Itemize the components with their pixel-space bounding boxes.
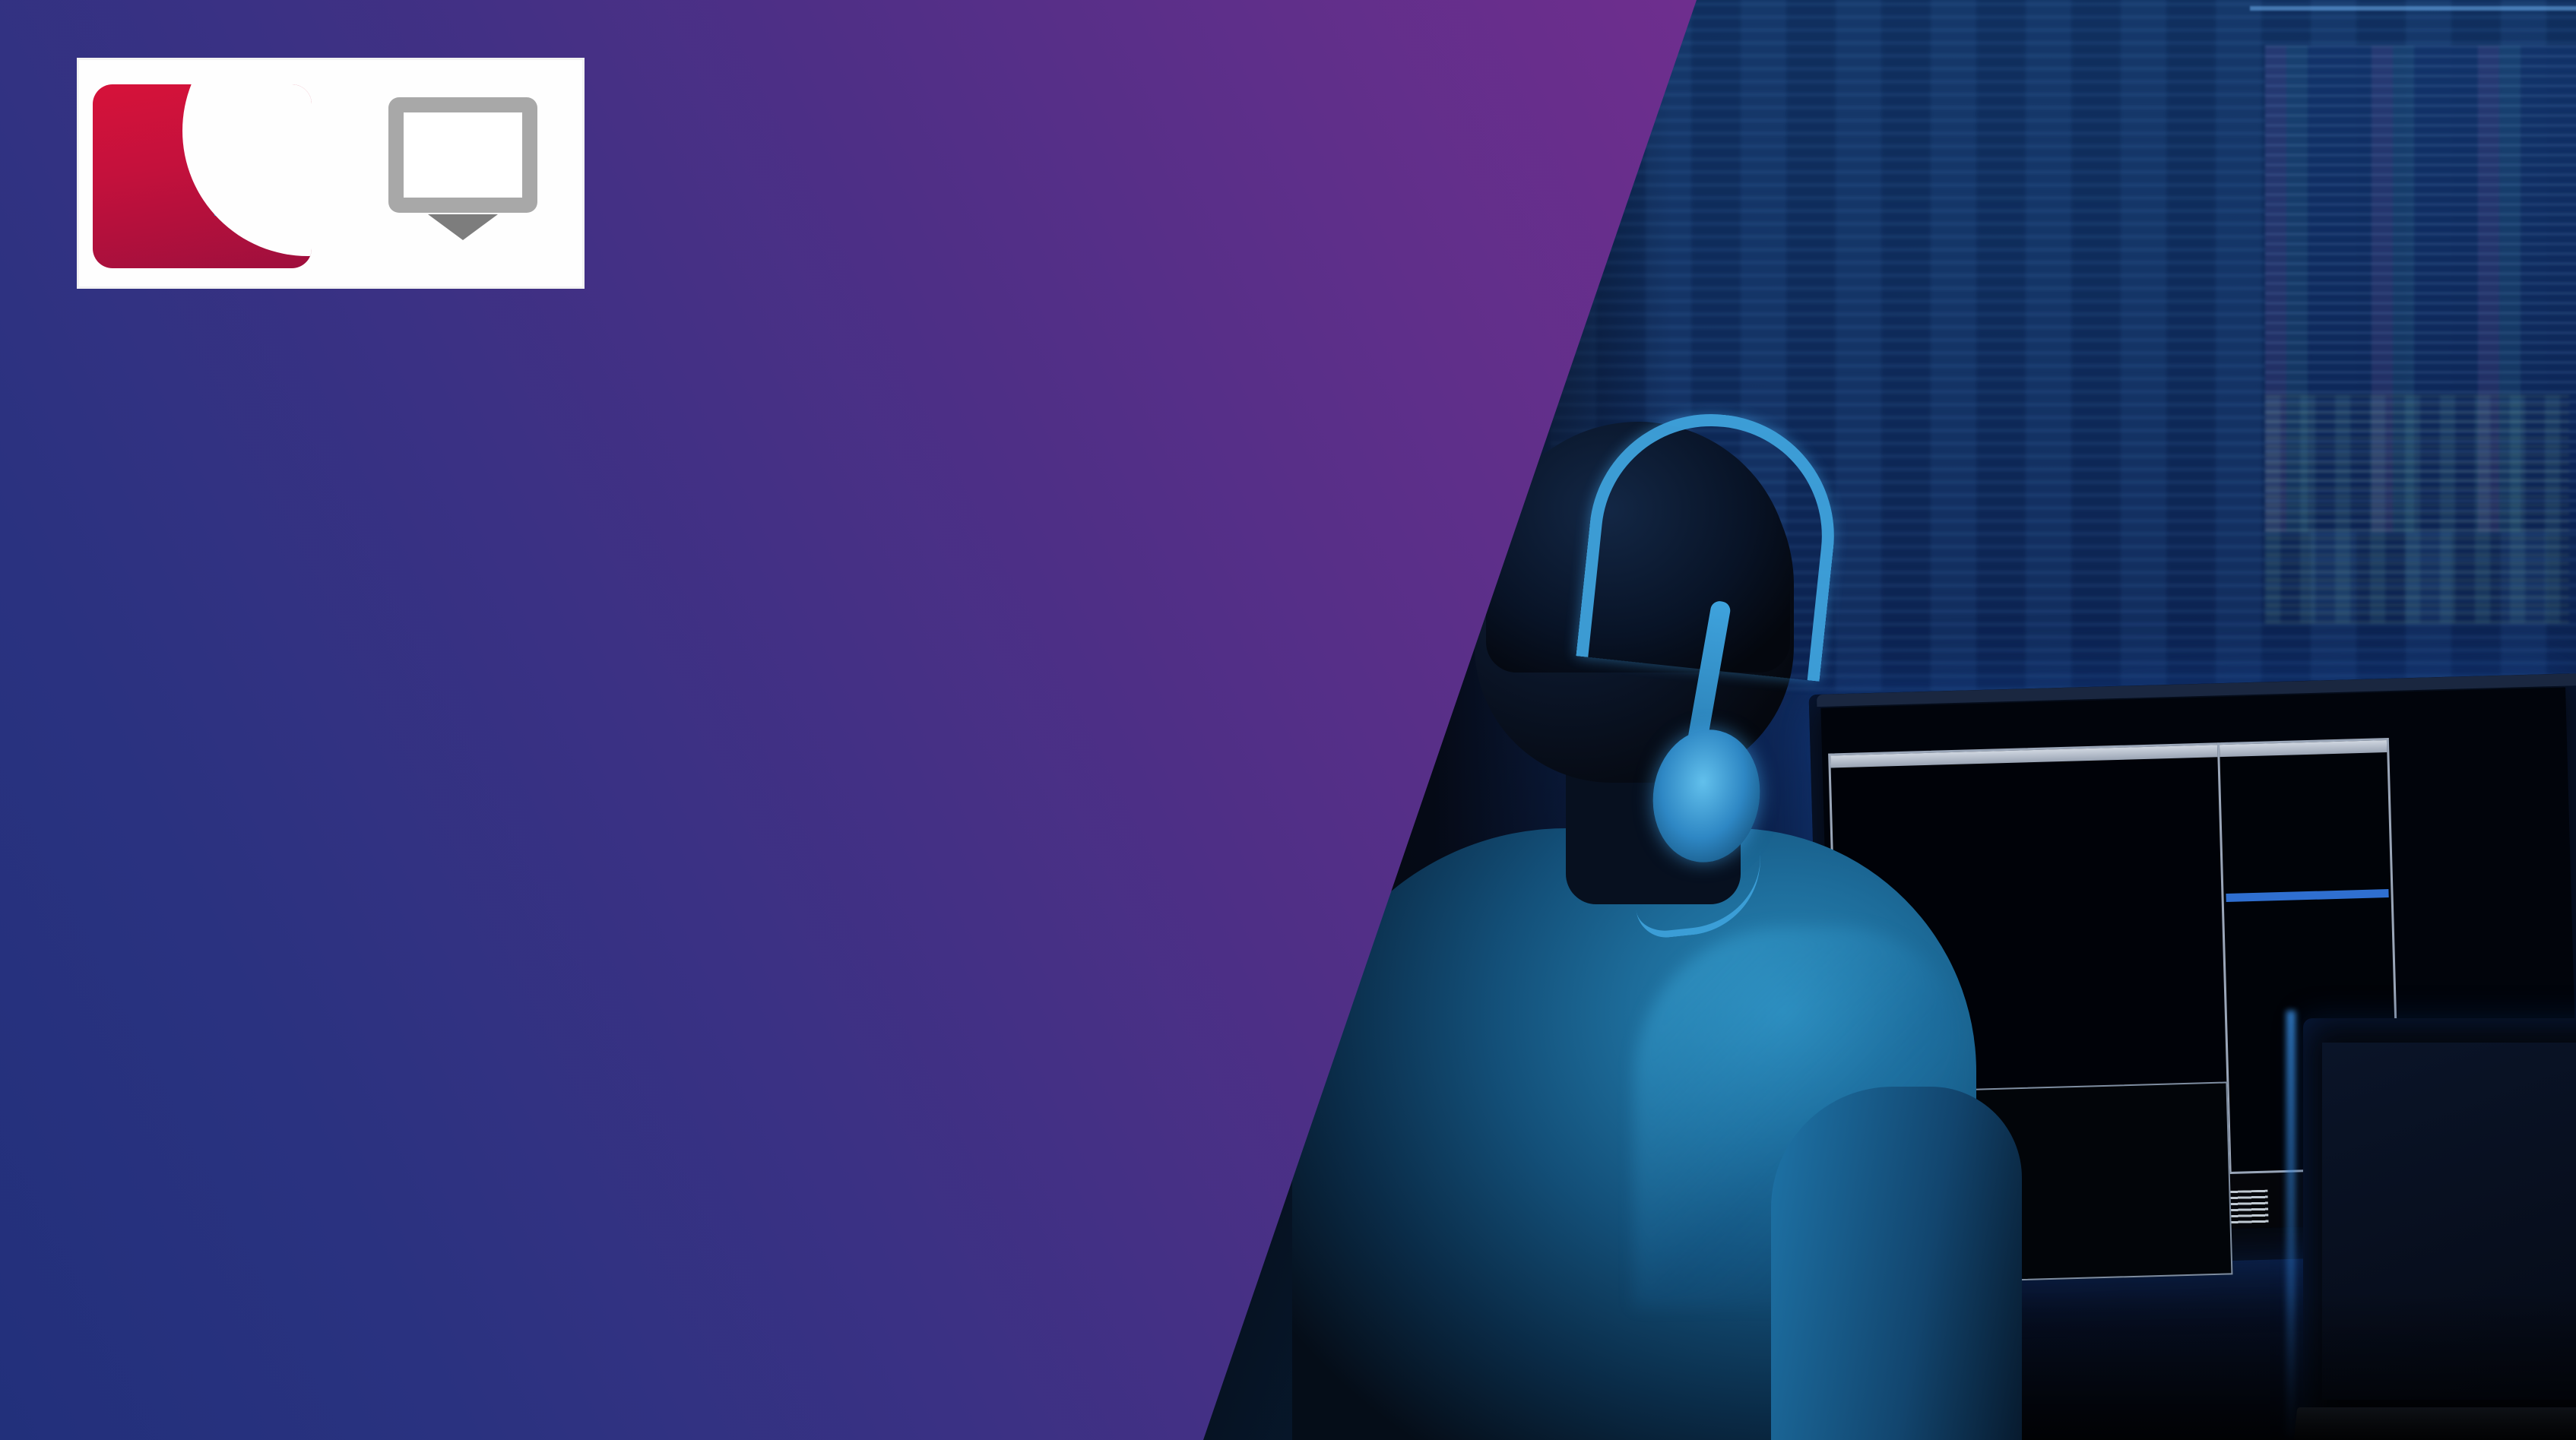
slide-content — [0, 0, 1292, 1440]
background-data-table — [2265, 395, 2569, 623]
bullet-list — [84, 733, 1239, 925]
webinar-logo-mark — [360, 78, 566, 268]
monitor-stand-icon — [428, 214, 498, 240]
person-arm — [1771, 1087, 2022, 1440]
background-code-highlight-bar — [2250, 6, 2576, 11]
champ-white-arc — [182, 84, 312, 256]
champ-webinar-logo — [77, 58, 585, 289]
champ-red-square — [93, 84, 312, 268]
champ-logo-mark — [93, 78, 321, 268]
monitor-icon — [388, 97, 537, 213]
window-titlebar — [1830, 745, 2226, 768]
webinar-title-slide — [0, 0, 2576, 1440]
window-titlebar — [2220, 740, 2387, 757]
selected-tree-item — [2226, 889, 2388, 902]
